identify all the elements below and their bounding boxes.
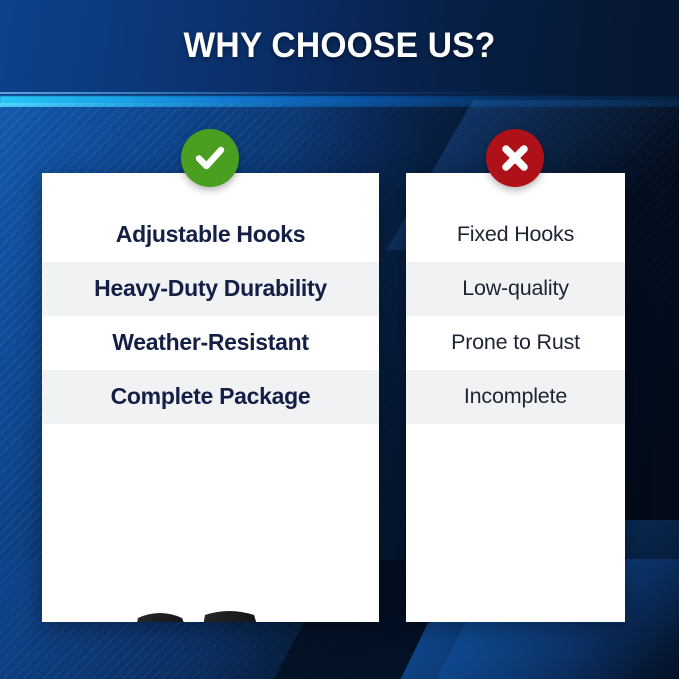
adjustable-tool-rail-illustration (42, 611, 379, 622)
list-item: Fixed Hooks (406, 208, 625, 262)
cons-product-photo (406, 611, 625, 622)
pros-card: Adjustable Hooks Heavy-Duty Durability W… (42, 173, 379, 622)
check-circle-icon (181, 129, 239, 187)
list-item: Low-quality (406, 262, 625, 316)
pros-item-label: Adjustable Hooks (116, 222, 305, 247)
pros-item-label: Weather-Resistant (112, 330, 308, 355)
list-item: Complete Package (42, 370, 379, 424)
list-item: Prone to Rust (406, 316, 625, 370)
list-item: Heavy-Duty Durability (42, 262, 379, 316)
cons-card: Fixed Hooks Low-quality Prone to Rust In… (406, 173, 625, 622)
list-item: Weather-Resistant (42, 316, 379, 370)
header-highlight-line (0, 92, 679, 94)
pros-product-photo (42, 611, 379, 622)
pros-item-label: Complete Package (111, 384, 311, 409)
pros-feature-list: Adjustable Hooks Heavy-Duty Durability W… (42, 208, 379, 424)
infographic-canvas: WHY CHOOSE US? Adjustable Hooks Heavy-Du… (0, 0, 679, 679)
page-title: WHY CHOOSE US? (14, 26, 666, 66)
check-glyph (193, 141, 227, 175)
list-item: Incomplete (406, 370, 625, 424)
cons-item-label: Prone to Rust (451, 331, 580, 355)
pros-item-label: Heavy-Duty Durability (94, 276, 327, 301)
cons-feature-list: Fixed Hooks Low-quality Prone to Rust In… (406, 208, 625, 424)
x-circle-icon (486, 129, 544, 187)
cons-item-label: Low-quality (462, 277, 569, 301)
list-item: Adjustable Hooks (42, 208, 379, 262)
fixed-hook-rail-illustration (406, 611, 625, 622)
cons-item-label: Fixed Hooks (457, 223, 574, 247)
cross-glyph (499, 142, 531, 174)
cons-item-label: Incomplete (464, 385, 567, 409)
